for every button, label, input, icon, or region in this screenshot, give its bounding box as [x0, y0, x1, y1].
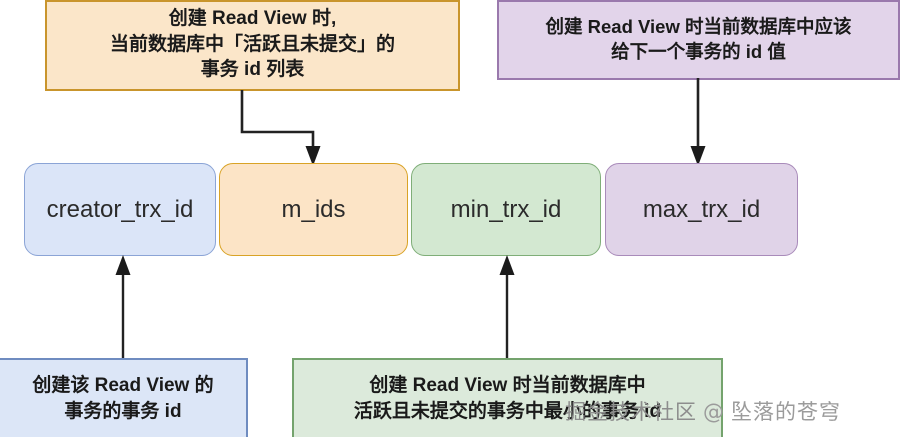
callout-max-trx-id: 创建 Read View 时当前数据库中应该 给下一个事务的 id 值 — [497, 0, 900, 80]
watermark-brand: 掘金技术社区 — [565, 400, 697, 424]
diagram-canvas: 创建 Read View 时, 当前数据库中「活跃且未提交」的 事务 id 列表… — [0, 0, 900, 437]
watermark: 掘金技术社区@坠落的苍穹 — [565, 396, 841, 426]
callout-creator-trx-id: 创建该 Read View 的 事务的事务 id — [0, 358, 248, 437]
field-box-max-trx-id[interactable]: max_trx_id — [605, 163, 798, 256]
watermark-at-symbol: @ — [703, 400, 725, 424]
connector-creator-trx-id-arrow — [109, 254, 137, 360]
watermark-author: 坠落的苍穹 — [731, 400, 841, 424]
connector-min-trx-id-arrow — [493, 254, 521, 360]
field-box-creator-trx-id[interactable]: creator_trx_id — [24, 163, 216, 256]
connector-m-ids-arrow — [230, 88, 330, 168]
connector-max-trx-id-arrow — [684, 78, 712, 168]
callout-m-ids: 创建 Read View 时, 当前数据库中「活跃且未提交」的 事务 id 列表 — [45, 0, 460, 91]
field-box-m-ids[interactable]: m_ids — [219, 163, 408, 256]
field-box-min-trx-id[interactable]: min_trx_id — [411, 163, 601, 256]
